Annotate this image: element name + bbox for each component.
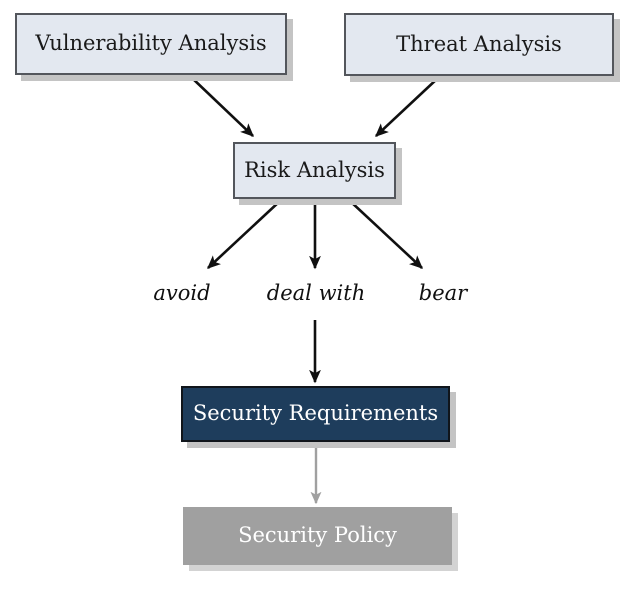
node-security-policy[interactable]: Security Policy: [183, 507, 452, 565]
diagram-canvas: Vulnerability Analysis Threat Analysis R…: [0, 0, 638, 595]
edge-label-bear: bear: [419, 281, 467, 305]
edge-vulnerability-to-risk: [191, 77, 253, 136]
node-label: Security Policy: [238, 524, 397, 547]
node-security-requirements[interactable]: Security Requirements: [181, 386, 450, 442]
node-label: Risk Analysis: [244, 159, 385, 182]
node-label: Threat Analysis: [396, 33, 562, 56]
edge-risk-to-bear: [350, 201, 422, 268]
edge-label-avoid: avoid: [153, 281, 210, 305]
edge-risk-to-avoid: [208, 201, 280, 268]
edge-threat-to-risk: [376, 78, 438, 136]
node-threat-analysis[interactable]: Threat Analysis: [344, 13, 614, 76]
node-risk-analysis[interactable]: Risk Analysis: [233, 142, 396, 199]
node-label: Security Requirements: [193, 402, 438, 425]
node-label: Vulnerability Analysis: [35, 32, 266, 55]
node-vulnerability-analysis[interactable]: Vulnerability Analysis: [15, 13, 287, 75]
edge-label-deal-with: deal with: [267, 281, 365, 305]
